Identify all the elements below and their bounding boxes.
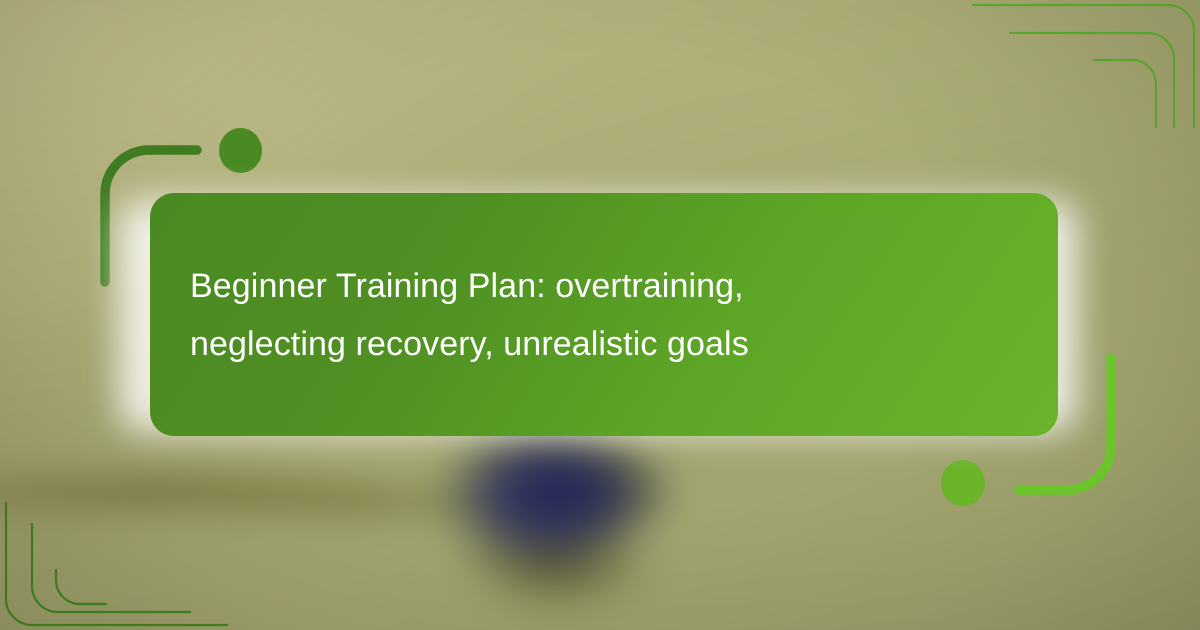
- social-card-canvas: Beginner Training Plan: overtraining, ne…: [0, 0, 1200, 630]
- title-card: Beginner Training Plan: overtraining, ne…: [150, 193, 1058, 436]
- page-title: Beginner Training Plan: overtraining, ne…: [190, 257, 830, 373]
